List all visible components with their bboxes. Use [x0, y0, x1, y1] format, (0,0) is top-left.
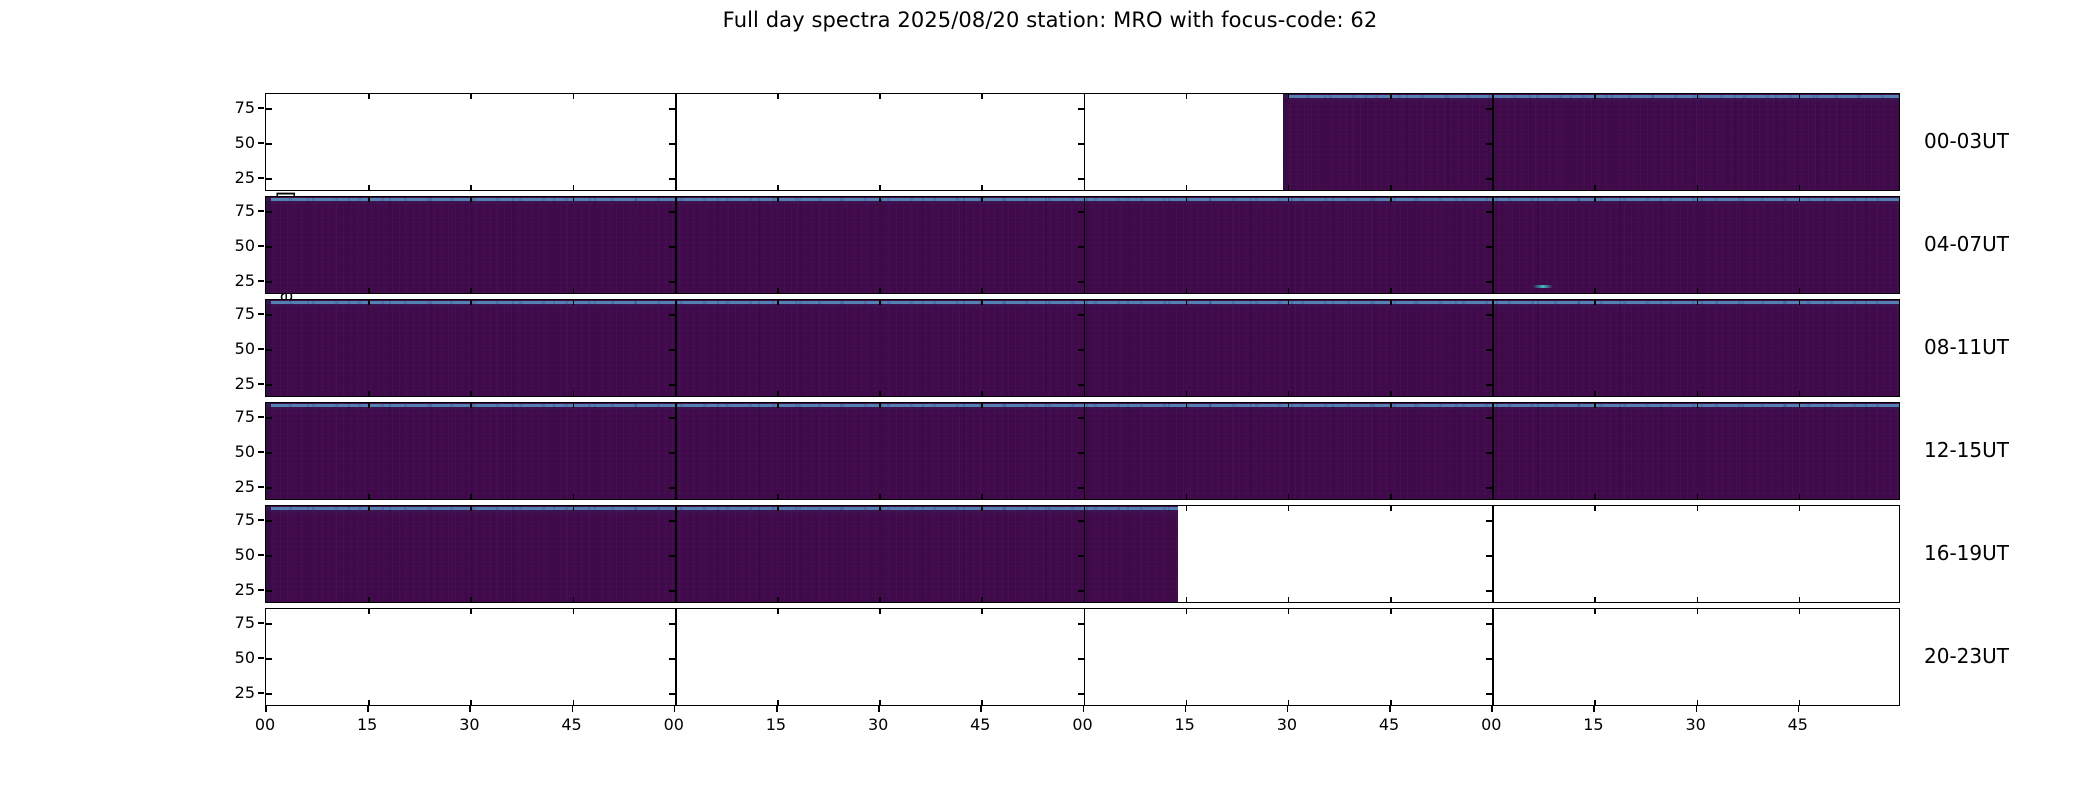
hour-divider-line	[675, 300, 677, 396]
y-tick-mark	[1486, 520, 1492, 522]
panel-time-range-label: 08-11UT	[1924, 335, 2009, 359]
x-tick-mark	[777, 494, 779, 499]
x-tick-mark	[1799, 609, 1801, 614]
x-tick-mark	[1594, 506, 1596, 511]
x-tick-mark	[265, 706, 267, 712]
x-tick-mark	[1492, 506, 1494, 511]
x-tick-mark	[777, 609, 779, 614]
x-tick-mark	[1492, 494, 1494, 499]
x-tick-mark	[777, 403, 779, 408]
y-tick-label: 25	[211, 580, 255, 599]
x-tick-label: 00	[245, 715, 285, 734]
y-tick-mark	[1486, 417, 1492, 419]
x-tick-mark	[675, 197, 677, 202]
panel-stack: 75502500-03UT75502504-07UT75502508-11UT7…	[265, 93, 1900, 710]
x-tick-label: 45	[552, 715, 592, 734]
x-tick-mark	[777, 94, 779, 99]
x-tick-label: 30	[449, 715, 489, 734]
panel-time-range-label: 20-23UT	[1924, 644, 2009, 668]
y-tick-mark	[258, 519, 264, 521]
x-tick-mark	[1594, 403, 1596, 408]
x-tick-mark	[1288, 403, 1290, 408]
x-tick-mark	[1491, 706, 1493, 712]
spectrogram-panel[interactable]	[265, 196, 1900, 294]
x-tick-mark	[879, 700, 881, 705]
x-tick-mark	[1186, 300, 1188, 305]
x-tick-mark	[469, 706, 471, 712]
y-tick-mark	[258, 245, 264, 247]
y-tick-mark	[1078, 590, 1084, 592]
x-tick-mark	[1799, 300, 1801, 305]
x-tick-mark	[573, 288, 575, 293]
y-tick-label: 50	[211, 133, 255, 152]
x-tick-mark	[1186, 197, 1188, 202]
x-tick-mark	[1186, 288, 1188, 293]
y-tick-mark	[669, 623, 675, 625]
x-tick-mark	[1390, 506, 1392, 511]
x-tick-mark	[675, 597, 677, 602]
x-tick-label: 15	[347, 715, 387, 734]
x-tick-mark	[1594, 288, 1596, 293]
y-tick-mark	[669, 178, 675, 180]
x-tick-mark	[470, 185, 472, 190]
x-tick-mark	[1288, 197, 1290, 202]
x-tick-mark	[981, 300, 983, 305]
x-tick-mark	[573, 94, 575, 99]
y-tick-mark	[1078, 314, 1084, 316]
y-tick-mark	[266, 590, 272, 592]
spectrogram-data-region	[1283, 94, 1900, 190]
x-tick-mark	[1084, 597, 1086, 602]
x-tick-label: 00	[1471, 715, 1511, 734]
x-tick-mark	[1697, 700, 1699, 705]
radio-burst-marker	[1533, 285, 1553, 288]
x-tick-mark	[1594, 597, 1596, 602]
x-tick-mark	[368, 288, 370, 293]
x-tick-mark	[1390, 185, 1392, 190]
y-tick-mark	[1486, 658, 1492, 660]
x-tick-mark	[879, 506, 881, 511]
hour-divider-line	[675, 609, 677, 705]
x-tick-mark	[1084, 403, 1086, 408]
y-tick-label: 75	[211, 613, 255, 632]
y-tick-label: 25	[211, 477, 255, 496]
y-tick-mark	[669, 211, 675, 213]
x-tick-mark	[1186, 403, 1188, 408]
spectrogram-panel[interactable]	[265, 402, 1900, 500]
x-tick-mark	[1083, 706, 1085, 712]
x-tick-mark	[1390, 700, 1392, 705]
x-tick-mark	[1697, 391, 1699, 396]
y-tick-label: 75	[211, 201, 255, 220]
y-tick-mark	[266, 246, 272, 248]
x-tick-mark	[1288, 494, 1290, 499]
y-tick-mark	[258, 554, 264, 556]
x-tick-mark	[1492, 597, 1494, 602]
x-tick-mark	[1288, 94, 1290, 99]
y-tick-mark	[1486, 384, 1492, 386]
x-tick-mark	[1186, 506, 1188, 511]
y-tick-mark	[1078, 555, 1084, 557]
spectrogram-panel[interactable]	[265, 93, 1900, 191]
y-tick-mark	[1486, 246, 1492, 248]
y-tick-mark	[266, 623, 272, 625]
x-tick-mark	[675, 403, 677, 408]
x-tick-mark	[368, 609, 370, 614]
y-tick-label: 50	[211, 339, 255, 358]
page-title: Full day spectra 2025/08/20 station: MRO…	[0, 8, 2100, 32]
x-tick-mark	[470, 94, 472, 99]
x-tick-mark	[1697, 494, 1699, 499]
x-tick-mark	[980, 706, 982, 712]
y-tick-mark	[669, 281, 675, 283]
hour-divider-line	[1084, 94, 1086, 190]
x-tick-mark	[675, 391, 677, 396]
y-tick-mark	[258, 416, 264, 418]
y-tick-label: 75	[211, 407, 255, 426]
x-tick-mark	[1594, 391, 1596, 396]
y-tick-mark	[1078, 693, 1084, 695]
x-tick-mark	[368, 185, 370, 190]
x-tick-mark	[1084, 94, 1086, 99]
x-tick-mark	[1799, 197, 1801, 202]
hour-divider-line	[675, 403, 677, 499]
x-tick-mark	[879, 494, 881, 499]
x-tick-mark	[675, 300, 677, 305]
x-tick-mark	[1084, 391, 1086, 396]
x-tick-mark	[675, 185, 677, 190]
y-tick-mark	[1078, 281, 1084, 283]
x-tick-mark	[1799, 506, 1801, 511]
y-tick-mark	[669, 314, 675, 316]
x-tick-mark	[1288, 300, 1290, 305]
x-tick-mark	[470, 597, 472, 602]
x-tick-mark	[470, 506, 472, 511]
spectrogram-figure: Full day spectra 2025/08/20 station: MRO…	[0, 0, 2100, 800]
x-tick-mark	[981, 597, 983, 602]
y-tick-mark	[1486, 452, 1492, 454]
x-tick-label: 30	[858, 715, 898, 734]
x-tick-mark	[368, 597, 370, 602]
x-tick-mark	[1492, 609, 1494, 614]
x-tick-mark	[1492, 197, 1494, 202]
hour-divider-line	[1492, 506, 1494, 602]
x-tick-mark	[1799, 391, 1801, 396]
x-tick-mark	[1186, 597, 1188, 602]
y-tick-mark	[1078, 452, 1084, 454]
x-tick-mark	[470, 391, 472, 396]
y-tick-label: 75	[211, 510, 255, 529]
hour-divider-line	[675, 197, 677, 293]
x-tick-mark	[1084, 700, 1086, 705]
y-tick-mark	[258, 486, 264, 488]
x-tick-mark	[1492, 94, 1494, 99]
x-tick-mark	[573, 391, 575, 396]
x-tick-mark	[879, 609, 881, 614]
x-tick-mark	[1186, 494, 1188, 499]
y-tick-mark	[258, 177, 264, 179]
x-tick-mark	[573, 506, 575, 511]
y-tick-mark	[266, 520, 272, 522]
y-tick-mark	[1486, 349, 1492, 351]
x-tick-mark	[368, 494, 370, 499]
y-tick-mark	[258, 210, 264, 212]
y-tick-mark	[258, 313, 264, 315]
x-tick-mark	[573, 185, 575, 190]
x-tick-mark	[1390, 94, 1392, 99]
y-tick-mark	[669, 384, 675, 386]
y-tick-mark	[1078, 143, 1084, 145]
y-tick-mark	[1078, 487, 1084, 489]
x-tick-mark	[1288, 700, 1290, 705]
x-tick-label: 30	[1267, 715, 1307, 734]
y-tick-mark	[258, 142, 264, 144]
x-tick-label: 30	[1676, 715, 1716, 734]
y-tick-mark	[258, 280, 264, 282]
x-tick-mark	[368, 94, 370, 99]
x-tick-mark	[981, 403, 983, 408]
x-tick-mark	[879, 197, 881, 202]
x-tick-mark	[878, 706, 880, 712]
x-tick-mark	[368, 197, 370, 202]
panel-time-range-label: 04-07UT	[1924, 232, 2009, 256]
x-tick-mark	[1492, 391, 1494, 396]
x-tick-mark	[1799, 94, 1801, 99]
x-tick-mark	[1798, 706, 1800, 712]
y-tick-mark	[258, 451, 264, 453]
x-tick-mark	[1594, 494, 1596, 499]
x-tick-mark	[1492, 288, 1494, 293]
y-tick-mark	[266, 349, 272, 351]
y-tick-label: 25	[211, 683, 255, 702]
x-tick-mark	[1799, 494, 1801, 499]
x-tick-mark	[674, 706, 676, 712]
x-tick-mark	[777, 185, 779, 190]
y-tick-mark	[1078, 520, 1084, 522]
y-tick-mark	[669, 108, 675, 110]
y-tick-mark	[669, 590, 675, 592]
y-tick-label: 75	[211, 304, 255, 323]
x-tick-mark	[1084, 185, 1086, 190]
hour-divider-line	[1084, 300, 1086, 396]
panel-time-range-label: 12-15UT	[1924, 438, 2009, 462]
y-tick-mark	[1486, 178, 1492, 180]
x-tick-mark	[573, 494, 575, 499]
y-tick-mark	[669, 520, 675, 522]
x-tick-label: 15	[756, 715, 796, 734]
x-tick-mark	[1697, 597, 1699, 602]
x-tick-label: 45	[960, 715, 1000, 734]
x-tick-mark	[470, 288, 472, 293]
x-tick-mark	[981, 494, 983, 499]
y-tick-mark	[669, 693, 675, 695]
x-tick-mark	[1084, 494, 1086, 499]
x-tick-mark	[1084, 609, 1086, 614]
x-tick-mark	[675, 494, 677, 499]
y-tick-mark	[258, 348, 264, 350]
x-tick-mark	[777, 597, 779, 602]
x-tick-mark	[1084, 506, 1086, 511]
x-tick-mark	[879, 391, 881, 396]
y-tick-mark	[1486, 590, 1492, 592]
y-tick-mark	[669, 487, 675, 489]
y-tick-mark	[266, 555, 272, 557]
x-tick-mark	[1594, 300, 1596, 305]
x-tick-mark	[1390, 609, 1392, 614]
x-tick-mark	[368, 300, 370, 305]
hour-divider-line	[1492, 609, 1494, 705]
x-tick-mark	[777, 391, 779, 396]
x-tick-mark	[1186, 391, 1188, 396]
x-tick-mark	[470, 494, 472, 499]
y-tick-mark	[1078, 417, 1084, 419]
x-tick-mark	[675, 288, 677, 293]
y-tick-mark	[1486, 314, 1492, 316]
y-tick-label: 50	[211, 236, 255, 255]
x-tick-label: 00	[1063, 715, 1103, 734]
x-tick-mark	[1594, 94, 1596, 99]
x-tick-mark	[573, 597, 575, 602]
x-tick-mark	[1390, 403, 1392, 408]
y-tick-label: 50	[211, 545, 255, 564]
y-tick-mark	[1486, 623, 1492, 625]
y-tick-mark	[258, 657, 264, 659]
y-tick-mark	[266, 384, 272, 386]
y-tick-mark	[669, 452, 675, 454]
x-tick-mark	[777, 506, 779, 511]
spectrogram-panel[interactable]	[265, 608, 1900, 706]
y-tick-mark	[266, 452, 272, 454]
y-tick-mark	[669, 349, 675, 351]
y-tick-mark	[258, 589, 264, 591]
y-tick-mark	[266, 143, 272, 145]
x-tick-label: 15	[1165, 715, 1205, 734]
x-tick-mark	[981, 197, 983, 202]
x-tick-mark	[1697, 185, 1699, 190]
y-tick-mark	[669, 143, 675, 145]
spectrogram-panel[interactable]	[265, 299, 1900, 397]
x-tick-label: 00	[654, 715, 694, 734]
x-tick-mark	[1390, 197, 1392, 202]
y-tick-mark	[258, 383, 264, 385]
y-tick-mark	[669, 246, 675, 248]
y-tick-label: 75	[211, 98, 255, 117]
x-tick-mark	[981, 700, 983, 705]
x-tick-mark	[1288, 597, 1290, 602]
hour-divider-line	[675, 506, 677, 602]
y-tick-mark	[266, 281, 272, 283]
x-tick-mark	[1288, 391, 1290, 396]
x-tick-mark	[1390, 494, 1392, 499]
hour-divider-line	[1084, 403, 1086, 499]
y-tick-mark	[1078, 658, 1084, 660]
x-tick-mark	[1186, 700, 1188, 705]
x-tick-mark	[1390, 391, 1392, 396]
x-tick-mark	[1697, 609, 1699, 614]
x-tick-mark	[1594, 197, 1596, 202]
x-tick-mark	[1186, 185, 1188, 190]
x-tick-mark	[470, 609, 472, 614]
x-tick-mark	[1594, 185, 1596, 190]
x-tick-mark	[879, 597, 881, 602]
hour-divider-line	[1084, 506, 1086, 602]
x-tick-mark	[1287, 706, 1289, 712]
spectrogram-panel[interactable]	[265, 505, 1900, 603]
hour-divider-line	[675, 94, 677, 190]
x-tick-mark	[776, 706, 778, 712]
x-tick-mark	[1697, 300, 1699, 305]
y-tick-mark	[266, 487, 272, 489]
y-tick-mark	[1078, 349, 1084, 351]
y-tick-mark	[1078, 623, 1084, 625]
x-tick-mark	[1799, 597, 1801, 602]
y-tick-mark	[266, 658, 272, 660]
x-tick-mark	[573, 700, 575, 705]
x-tick-label: 45	[1778, 715, 1818, 734]
x-tick-mark	[1594, 609, 1596, 614]
x-tick-mark	[675, 506, 677, 511]
y-tick-mark	[1078, 384, 1084, 386]
x-tick-mark	[981, 288, 983, 293]
y-tick-mark	[1078, 108, 1084, 110]
x-tick-mark	[1288, 185, 1290, 190]
x-tick-mark	[879, 403, 881, 408]
x-tick-mark	[470, 700, 472, 705]
y-tick-mark	[1078, 178, 1084, 180]
x-tick-mark	[777, 288, 779, 293]
y-tick-mark	[1486, 555, 1492, 557]
y-tick-mark	[669, 658, 675, 660]
data-left-edge-strip	[1283, 94, 1288, 190]
x-tick-mark	[1389, 706, 1391, 712]
panel-time-range-label: 00-03UT	[1924, 129, 2009, 153]
x-tick-mark	[1799, 185, 1801, 190]
x-tick-mark	[1390, 597, 1392, 602]
x-tick-label: 45	[1369, 715, 1409, 734]
x-tick-mark	[675, 700, 677, 705]
y-tick-mark	[1486, 143, 1492, 145]
x-tick-mark	[470, 403, 472, 408]
x-tick-mark	[777, 700, 779, 705]
x-tick-mark	[1492, 185, 1494, 190]
hour-divider-line	[1492, 300, 1494, 396]
y-tick-mark	[1078, 246, 1084, 248]
hour-divider-line	[1492, 197, 1494, 293]
x-tick-mark	[572, 706, 574, 712]
x-tick-mark	[573, 403, 575, 408]
x-tick-mark	[1185, 706, 1187, 712]
x-tick-mark	[1492, 700, 1494, 705]
x-tick-mark	[1697, 403, 1699, 408]
y-tick-mark	[258, 692, 264, 694]
x-tick-mark	[1084, 288, 1086, 293]
y-tick-mark	[1486, 211, 1492, 213]
y-tick-label: 25	[211, 374, 255, 393]
x-tick-mark	[1492, 403, 1494, 408]
hour-divider-line	[1492, 94, 1494, 190]
x-tick-mark	[573, 197, 575, 202]
y-tick-label: 50	[211, 648, 255, 667]
y-tick-mark	[1486, 487, 1492, 489]
x-tick-mark	[1593, 706, 1595, 712]
hour-divider-line	[1492, 403, 1494, 499]
x-tick-mark	[879, 185, 881, 190]
x-tick-mark	[573, 300, 575, 305]
y-tick-label: 50	[211, 442, 255, 461]
x-tick-mark	[1084, 197, 1086, 202]
x-tick-mark	[1799, 700, 1801, 705]
x-tick-mark	[1186, 609, 1188, 614]
